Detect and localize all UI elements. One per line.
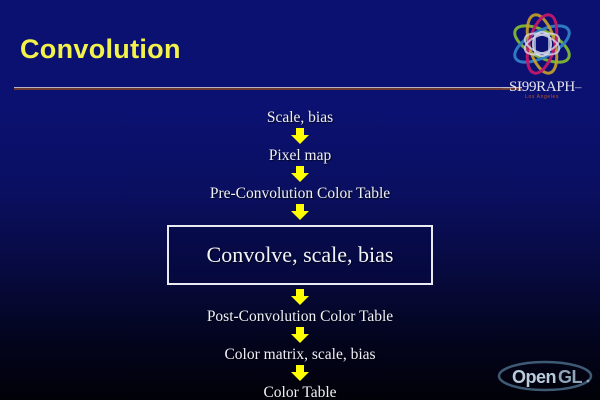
convolve-box-label: Convolve, scale, bias: [207, 242, 394, 268]
arrow-down-icon: [290, 204, 310, 221]
siggraph-right-dash: –: [575, 79, 581, 94]
siggraph-logo: –SI99RAPH– Los Angeles: [490, 8, 594, 106]
svg-text:GL: GL: [558, 367, 583, 387]
flow-step-color-table: Color Table: [263, 383, 336, 400]
flow-step-color-matrix-scale-bias: Color matrix, scale, bias: [224, 345, 375, 364]
arrow-down-icon: [290, 289, 310, 306]
flow-step-pre-convolution-color-table: Pre-Convolution Color Table: [210, 184, 390, 203]
siggraph-wordmark-text: SI99RAPH: [509, 79, 575, 95]
arrow-down-icon: [290, 365, 310, 382]
convolution-pipeline-flowchart: Scale, bias Pixel map Pre-Convolution Co…: [0, 108, 600, 400]
opengl-logo-icon: Open GL: [496, 359, 594, 393]
arrow-down-icon: [290, 327, 310, 344]
flow-step-pixel-map: Pixel map: [269, 146, 331, 165]
divider-bottom-edge: [14, 88, 522, 90]
title-divider: [14, 87, 522, 90]
presentation-slide: Convolution –SI99RAPH– Los Angeles Scale…: [0, 0, 600, 400]
siggraph-rings-icon: [490, 8, 594, 82]
flow-step-post-convolution-color-table: Post-Convolution Color Table: [207, 307, 393, 326]
page-title: Convolution: [20, 34, 181, 65]
flow-step-scale-bias: Scale, bias: [267, 108, 333, 127]
arrow-down-icon: [290, 166, 310, 183]
flow-step-convolve-box: Convolve, scale, bias: [167, 225, 433, 285]
siggraph-subtitle: Los Angeles: [490, 94, 594, 100]
opengl-logo: Open GL: [496, 359, 594, 393]
arrow-down-icon: [290, 128, 310, 145]
svg-text:Open: Open: [512, 367, 556, 387]
